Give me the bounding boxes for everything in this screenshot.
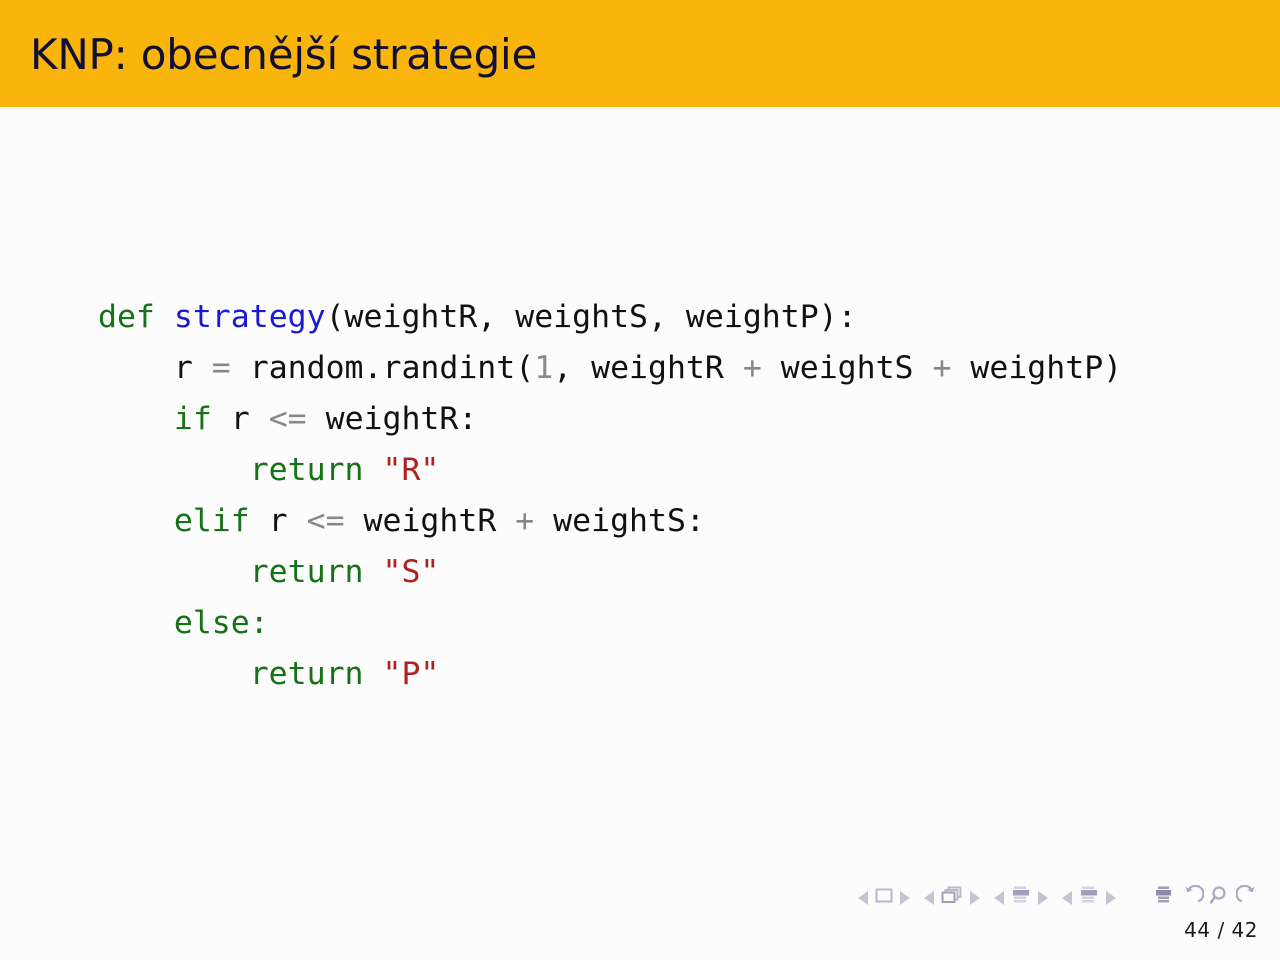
code-token: + <box>515 503 534 539</box>
search-icon[interactable] <box>1210 885 1230 910</box>
code-line: return "R" <box>98 445 1122 496</box>
code-indent <box>98 656 250 692</box>
code-token: r <box>250 503 307 539</box>
code-token: return <box>250 452 364 488</box>
code-indent <box>98 554 250 590</box>
code-token: elif <box>174 503 250 539</box>
code-token <box>364 452 383 488</box>
page-indicator: 44 / 42 <box>1184 918 1258 942</box>
code-token <box>364 554 383 590</box>
next-slide-icon[interactable] <box>900 891 910 905</box>
navigation-tools-group[interactable] <box>1182 885 1258 910</box>
code-indent <box>98 452 250 488</box>
code-token: "R" <box>382 452 439 488</box>
code-token: (weightR, weightS, weightP): <box>326 299 857 335</box>
section-icon[interactable] <box>1079 886 1099 910</box>
code-token: + <box>743 350 762 386</box>
code-line: def strategy(weightR, weightS, weightP): <box>98 292 1122 343</box>
code-token: weightR: <box>307 401 478 437</box>
code-token: = <box>212 350 231 386</box>
code-line: return "S" <box>98 547 1122 598</box>
code-token: , weightR <box>553 350 743 386</box>
code-token: return <box>250 656 364 692</box>
code-token: weightR <box>345 503 516 539</box>
code-token: strategy <box>174 299 326 335</box>
frame-navigation-group[interactable] <box>924 886 980 909</box>
code-indent <box>98 350 174 386</box>
code-indent <box>98 605 174 641</box>
forward-icon[interactable] <box>1236 885 1258 910</box>
slide-header-bar: KNP: obecnější strategie <box>0 0 1280 107</box>
subsection-navigation-group[interactable] <box>994 886 1048 910</box>
code-line: return "P" <box>98 649 1122 700</box>
slide-body: def strategy(weightR, weightS, weightP):… <box>0 107 1280 960</box>
code-token: weightS: <box>534 503 705 539</box>
code-token: r <box>212 401 269 437</box>
beamer-navigation-bar[interactable] <box>858 885 1258 910</box>
code-line: r = random.randint(1, weightR + weightS … <box>98 343 1122 394</box>
code-token: 1 <box>534 350 553 386</box>
document-icon[interactable] <box>1154 886 1174 910</box>
code-token: weightS <box>762 350 933 386</box>
code-line: elif r <= weightR + weightS: <box>98 496 1122 547</box>
previous-section-icon[interactable] <box>1062 891 1072 905</box>
code-token: if <box>174 401 212 437</box>
code-token: <= <box>307 503 345 539</box>
code-token: + <box>932 350 951 386</box>
code-token <box>364 656 383 692</box>
previous-subsection-icon[interactable] <box>994 891 1004 905</box>
page-title: KNP: obecnější strategie <box>30 30 537 79</box>
code-token: def <box>98 299 155 335</box>
slide-navigation-group[interactable] <box>858 888 910 908</box>
code-token: "P" <box>382 656 439 692</box>
code-token: weightP) <box>951 350 1122 386</box>
code-line: if r <= weightR: <box>98 394 1122 445</box>
next-section-icon[interactable] <box>1106 891 1116 905</box>
frame-icon[interactable] <box>941 886 963 909</box>
section-navigation-group[interactable] <box>1062 886 1116 910</box>
previous-frame-icon[interactable] <box>924 891 934 905</box>
code-indent <box>98 503 174 539</box>
code-token: r <box>174 350 212 386</box>
code-token: return <box>250 554 364 590</box>
back-icon[interactable] <box>1182 885 1204 910</box>
code-indent <box>98 401 174 437</box>
code-token <box>155 299 174 335</box>
next-frame-icon[interactable] <box>970 891 980 905</box>
code-block: def strategy(weightR, weightS, weightP):… <box>98 292 1122 700</box>
subsection-icon[interactable] <box>1011 886 1031 910</box>
next-subsection-icon[interactable] <box>1038 891 1048 905</box>
code-token: "S" <box>382 554 439 590</box>
code-line: else: <box>98 598 1122 649</box>
previous-slide-icon[interactable] <box>858 891 868 905</box>
slide-icon[interactable] <box>875 888 893 908</box>
code-token: else: <box>174 605 269 641</box>
code-token: random.randint( <box>231 350 534 386</box>
code-token: <= <box>269 401 307 437</box>
